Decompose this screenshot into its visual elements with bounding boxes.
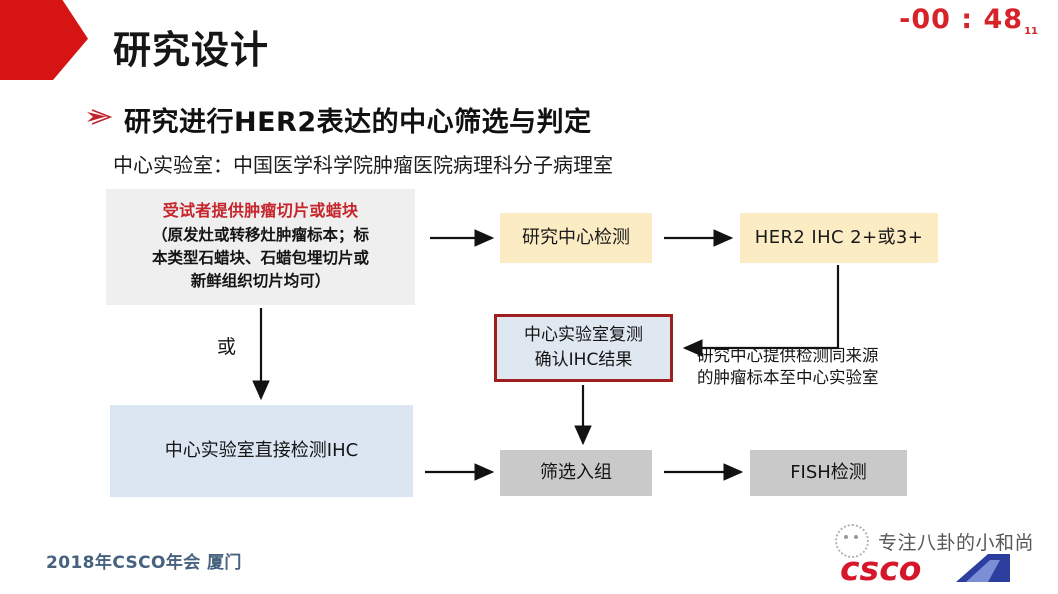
flow-box-fish-test: FISH检测 xyxy=(750,450,907,496)
retest-note: 研究中心提供检测同来源 的肿瘤标本至中心实验室 xyxy=(697,345,879,390)
arrow-bullet-icon xyxy=(86,108,112,126)
csco-logo: csco xyxy=(838,548,1028,590)
corner-pentagon-marker xyxy=(0,0,88,80)
flow-box-screening-enrollment: 筛选入组 xyxy=(500,450,652,496)
flow-box-specimen-source: 受试者提供肿瘤切片或蜡块 （原发灶或转移灶肿瘤标本；标 本类型石蜡块、石蜡包埋切… xyxy=(106,189,415,305)
conference-footer: 2018年CSCO年会 厦门 xyxy=(46,548,242,573)
retest-note-line-2: 的肿瘤标本至中心实验室 xyxy=(697,367,879,389)
central-lab-subtitle: 中心实验室：中国医学科学院肿瘤医院病理科分子病理室 xyxy=(113,149,613,178)
flow-box-center-testing: 研究中心检测 xyxy=(500,213,652,263)
flow-box-direct-ihc: 中心实验室直接检测IHC xyxy=(110,405,413,497)
timer-value: -00 : 48 xyxy=(899,4,1023,35)
flow-box-her2-result: HER2 IHC 2+或3+ xyxy=(740,213,938,263)
specimen-source-header: 受试者提供肿瘤切片或蜡块 xyxy=(163,199,359,222)
svg-text:csco: csco xyxy=(840,549,921,588)
retest-line-1: 中心实验室复测 xyxy=(524,323,643,348)
specimen-source-line-1: （原发灶或转移灶肿瘤标本；标 xyxy=(152,224,369,247)
countdown-timer: -00 : 4811 xyxy=(899,4,1038,37)
retest-note-line-1: 研究中心提供检测同来源 xyxy=(697,345,879,367)
section-heading: 研究进行HER2表达的中心筛选与判定 xyxy=(124,100,592,139)
or-label: 或 xyxy=(217,332,236,359)
page-title: 研究设计 xyxy=(113,19,269,74)
timer-subscript: 11 xyxy=(1024,26,1038,37)
slide-canvas: -00 : 4811 研究设计 研究进行HER2表达的中心筛选与判定 中心实验室… xyxy=(0,0,1058,594)
specimen-source-line-2: 本类型石蜡块、石蜡包埋切片或 xyxy=(152,247,369,270)
specimen-source-line-3: 新鲜组织切片均可） xyxy=(152,270,369,293)
retest-line-2: 确认IHC结果 xyxy=(535,348,633,373)
flow-box-central-lab-retest: 中心实验室复测 确认IHC结果 xyxy=(494,314,673,382)
